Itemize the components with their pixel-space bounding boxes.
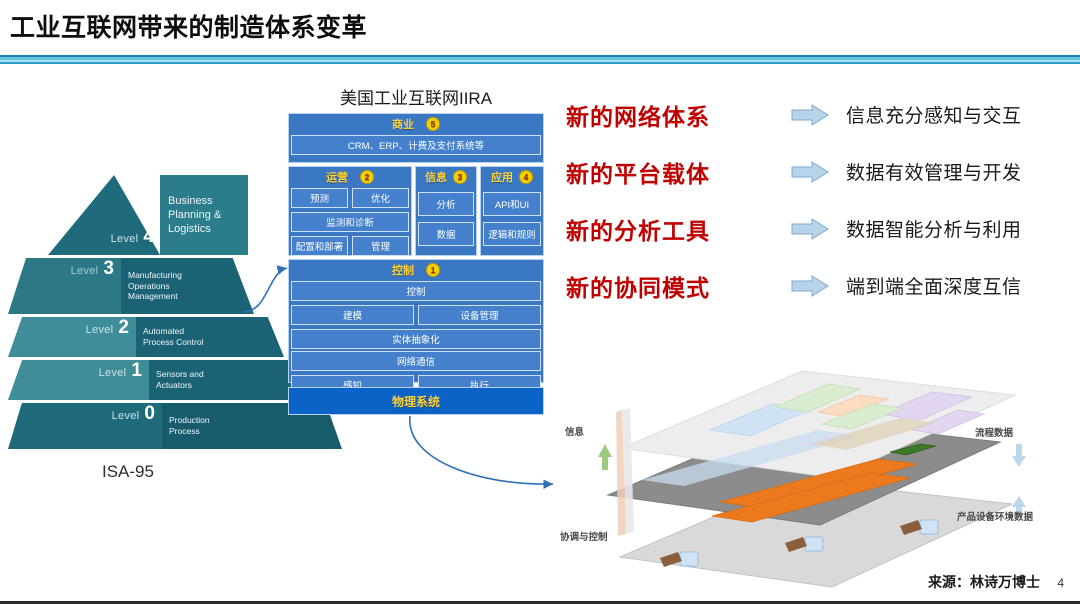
iira-business-badge: 5 [426,117,440,131]
iira-diagram: 商业5 CRM、ERP、计费及支付系统等 运营2 预测 优化 监测和诊断 配置和… [288,113,544,415]
up-arrow-green-icon [598,444,612,470]
iira-panel-business: 商业5 CRM、ERP、计费及支付系统等 [288,113,544,163]
iira-information-item-analysis: 分析 [418,192,474,216]
iira-control-header: 控制1 [289,260,543,279]
iira-middle-row: 运营2 预测 优化 监测和诊断 配置和部署 管理 信息3 分析 数据 应用4 [288,166,544,256]
right-arrow-icon [774,275,846,297]
label-information: 信息 [565,424,584,438]
divider-band-dark2 [0,62,1080,64]
page-number: 4 [1057,576,1064,590]
iira-physical-system-label: 物理系统 [392,393,440,410]
pyramid-level-0-left: Level 0 [8,403,162,449]
isa95-pyramid: Level 4 Business Planning & Logistics Le… [8,175,248,485]
arrow-iira-to-layers [410,416,553,484]
right-arrow-icon [774,161,846,183]
transformation-red-label: 新的分析工具 [566,212,774,246]
iira-operations-item-monitor-diagnose: 监测和诊断 [291,212,409,232]
iira-business-header-label: 商业 [392,119,414,131]
iira-information-header-label: 信息 [425,172,447,184]
device-icon-2 [805,537,823,551]
iira-control-item-modeling: 建模 [291,305,414,325]
iira-operations-header: 运营2 [289,167,411,186]
pyramid-level-1-desc: Sensors and Actuators [156,369,204,390]
pyramid-level-2-word: Level [86,324,114,336]
pyramid-level-4: Level 4 Business Planning & Logistics [48,175,248,255]
iira-application-item-logic-rules: 逻辑和规则 [483,222,541,246]
iira-operations-row-3: 配置和部署 管理 [289,234,411,258]
transformation-red-label: 新的协同模式 [566,269,774,303]
iira-control-item-entity-abstraction: 实体抽象化 [291,329,541,349]
source-note: 来源：林诗万博士 [928,572,1040,592]
transformation-row: 新的网络体系 信息充分感知与交互 [566,86,1071,143]
iira-application-item-api-ui: API和UI [483,192,541,216]
iira-control-badge: 1 [426,263,440,277]
title-divider [0,55,1080,64]
pyramid-caption: ISA-95 [8,462,248,482]
pyramid-level-4-slab: Business Planning & Logistics [160,175,248,255]
iira-control-item-control: 控制 [291,281,541,301]
transformation-black-label: 信息充分感知与交互 [846,101,1022,128]
iira-information-header: 信息3 [416,167,476,186]
iira-operations-item-manage: 管理 [352,236,409,256]
iira-control-row-2: 建模 设备管理 [289,303,543,327]
iira-application-header-label: 应用 [491,172,513,184]
iira-operations-row-1: 预测 优化 [289,186,411,210]
iira-panel-information: 信息3 分析 数据 [415,166,477,256]
iira-operations-header-label: 运营 [326,172,348,184]
iira-operations-item-optimize: 优化 [352,188,409,208]
pyramid-level-3-right: Manufacturing Operations Management [121,258,254,314]
transformation-black-label: 数据智能分析与利用 [846,215,1022,242]
iira-control-item-network-comms: 网络通信 [291,351,541,371]
pyramid-level-3-number: 3 [103,258,114,280]
pyramid-level-2-left: Level 2 [8,317,136,357]
iira-information-badge: 3 [453,170,467,184]
device-icon-3 [920,520,938,534]
pyramid-level-1-word: Level [99,367,127,379]
iira-control-header-label: 控制 [392,265,414,277]
layered-architecture-svg [560,352,1072,600]
layered-architecture-diagram: 信息 协调与控制 流程数据 产品设备环境数据 [560,352,1072,600]
right-arrow-icon [774,104,846,126]
pyramid-level-4-number: 4 [143,226,154,248]
transformation-row: 新的平台载体 数据有效管理与开发 [566,143,1071,200]
pyramid-level-1: Level 1 Sensors and Actuators [8,360,312,400]
iira-panel-application: 应用4 API和UI 逻辑和规则 [480,166,544,256]
pyramid-level-4-word: Level [111,233,139,245]
pyramid-level-3-desc: Manufacturing Operations Management [128,270,182,302]
transformation-black-label: 端到端全面深度互信 [846,272,1022,299]
iira-application-header: 应用4 [481,167,543,186]
iira-control-item-device-management: 设备管理 [418,305,541,325]
transformation-red-label: 新的网络体系 [566,98,774,132]
iira-operations-item-forecast: 预测 [291,188,348,208]
transformation-black-label: 数据有效管理与开发 [846,158,1022,185]
iira-application-badge: 4 [519,170,533,184]
pyramid-level-3-left: Level 3 [8,258,121,314]
iira-operations-item-config-deploy: 配置和部署 [291,236,348,256]
transformation-row: 新的分析工具 数据智能分析与利用 [566,200,1071,257]
transformation-red-label: 新的平台载体 [566,155,774,189]
down-arrow-blue-icon [1012,444,1026,467]
label-coordination: 协调与控制 [560,529,608,543]
iira-title: 美国工业互联网IIRA [285,84,547,109]
pyramid-level-0-desc: Production Process [169,415,210,436]
iira-business-item-0: CRM、ERP、计费及支付系统等 [291,135,541,155]
transformation-row: 新的协同模式 端到端全面深度互信 [566,257,1071,314]
pyramid-level-3-word: Level [71,265,99,277]
pyramid-level-1-number: 1 [131,360,142,382]
pyramid-level-2: Level 2 Automated Process Control [8,317,284,357]
pyramid-level-2-right: Automated Process Control [136,317,284,357]
device-icon-1 [680,552,698,566]
iira-business-header: 商业5 [289,114,543,133]
pyramid-level-0-number: 0 [144,403,155,425]
label-product-data: 产品设备环境数据 [957,509,1033,523]
iira-panel-operations: 运营2 预测 优化 监测和诊断 配置和部署 管理 [288,166,412,256]
label-process-data: 流程数据 [975,425,1013,439]
transformations-list: 新的网络体系 信息充分感知与交互 新的平台载体 数据有效管理与开发 新的分析工具… [566,86,1071,314]
iira-information-item-data: 数据 [418,222,474,246]
iira-operations-badge: 2 [360,170,374,184]
iira-panel-control: 控制1 控制 建模 设备管理 实体抽象化 网络通信 感知 执行 [288,259,544,383]
pyramid-level-4-apex: Level 4 [48,175,160,255]
pyramid-level-1-left: Level 1 [8,360,149,400]
page-title: 工业互联网带来的制造体系变革 [10,8,367,44]
iira-panel-physical-system: 物理系统 [288,387,544,415]
pyramid-level-2-number: 2 [118,317,129,339]
pyramid-level-2-desc: Automated Process Control [143,326,203,347]
pyramid-level-0-word: Level [112,410,140,422]
right-arrow-icon [774,218,846,240]
pyramid-level-4-desc: Business Planning & Logistics [168,194,221,237]
pyramid-level-3: Level 3 Manufacturing Operations Managem… [8,258,254,314]
